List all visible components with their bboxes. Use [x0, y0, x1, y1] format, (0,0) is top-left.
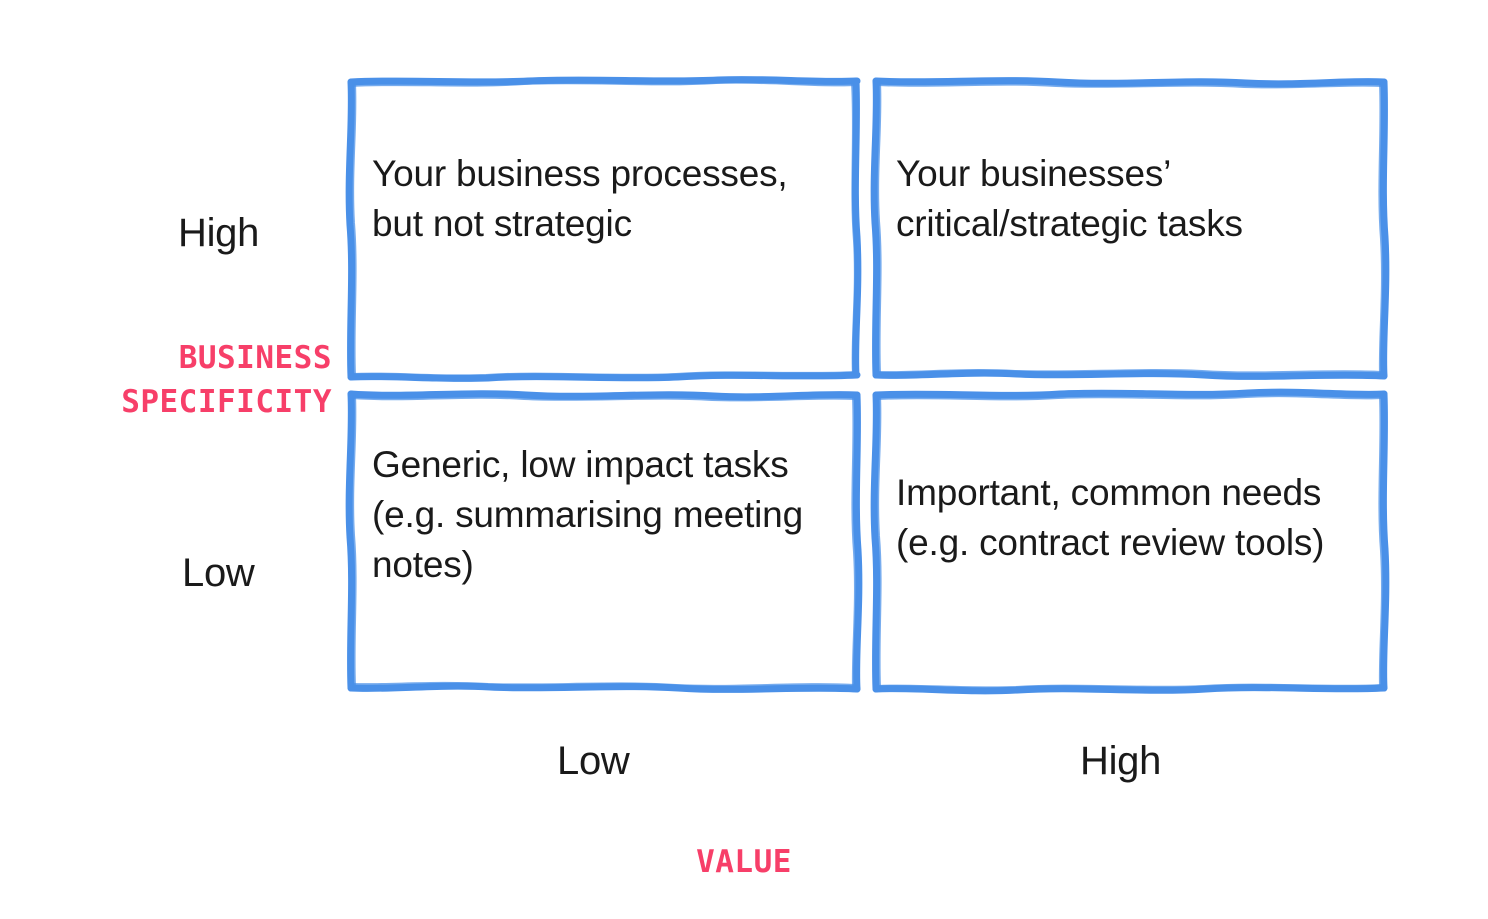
- x-axis-title: VALUE: [0, 847, 1488, 878]
- quadrant-low-specificity-low-value[interactable]: Generic, low impact tasks (e.g. summaris…: [348, 390, 860, 692]
- x-axis-label-low: Low: [557, 741, 629, 781]
- quadrant-text-bottom-left: Generic, low impact tasks (e.g. summaris…: [372, 440, 842, 590]
- quadrant-text-bottom-right: Important, common needs (e.g. contract r…: [896, 468, 1370, 568]
- quadrant-text-top-left: Your business processes, but not strateg…: [372, 149, 842, 249]
- quadrant-text-top-right: Your businesses’ critical/strategic task…: [896, 149, 1370, 249]
- quadrant-low-specificity-high-value[interactable]: Important, common needs (e.g. contract r…: [872, 390, 1388, 692]
- y-axis-label-low: Low: [182, 553, 254, 593]
- y-axis-label-high: High: [178, 213, 259, 253]
- two-by-two-matrix: BUSINESS SPECIFICITY High Low Your busin…: [0, 0, 1488, 919]
- x-axis-label-high: High: [1080, 741, 1161, 781]
- y-axis-title: BUSINESS SPECIFICITY: [0, 336, 332, 424]
- quadrant-high-specificity-high-value[interactable]: Your businesses’ critical/strategic task…: [872, 77, 1388, 379]
- quadrant-high-specificity-low-value[interactable]: Your business processes, but not strateg…: [348, 77, 860, 379]
